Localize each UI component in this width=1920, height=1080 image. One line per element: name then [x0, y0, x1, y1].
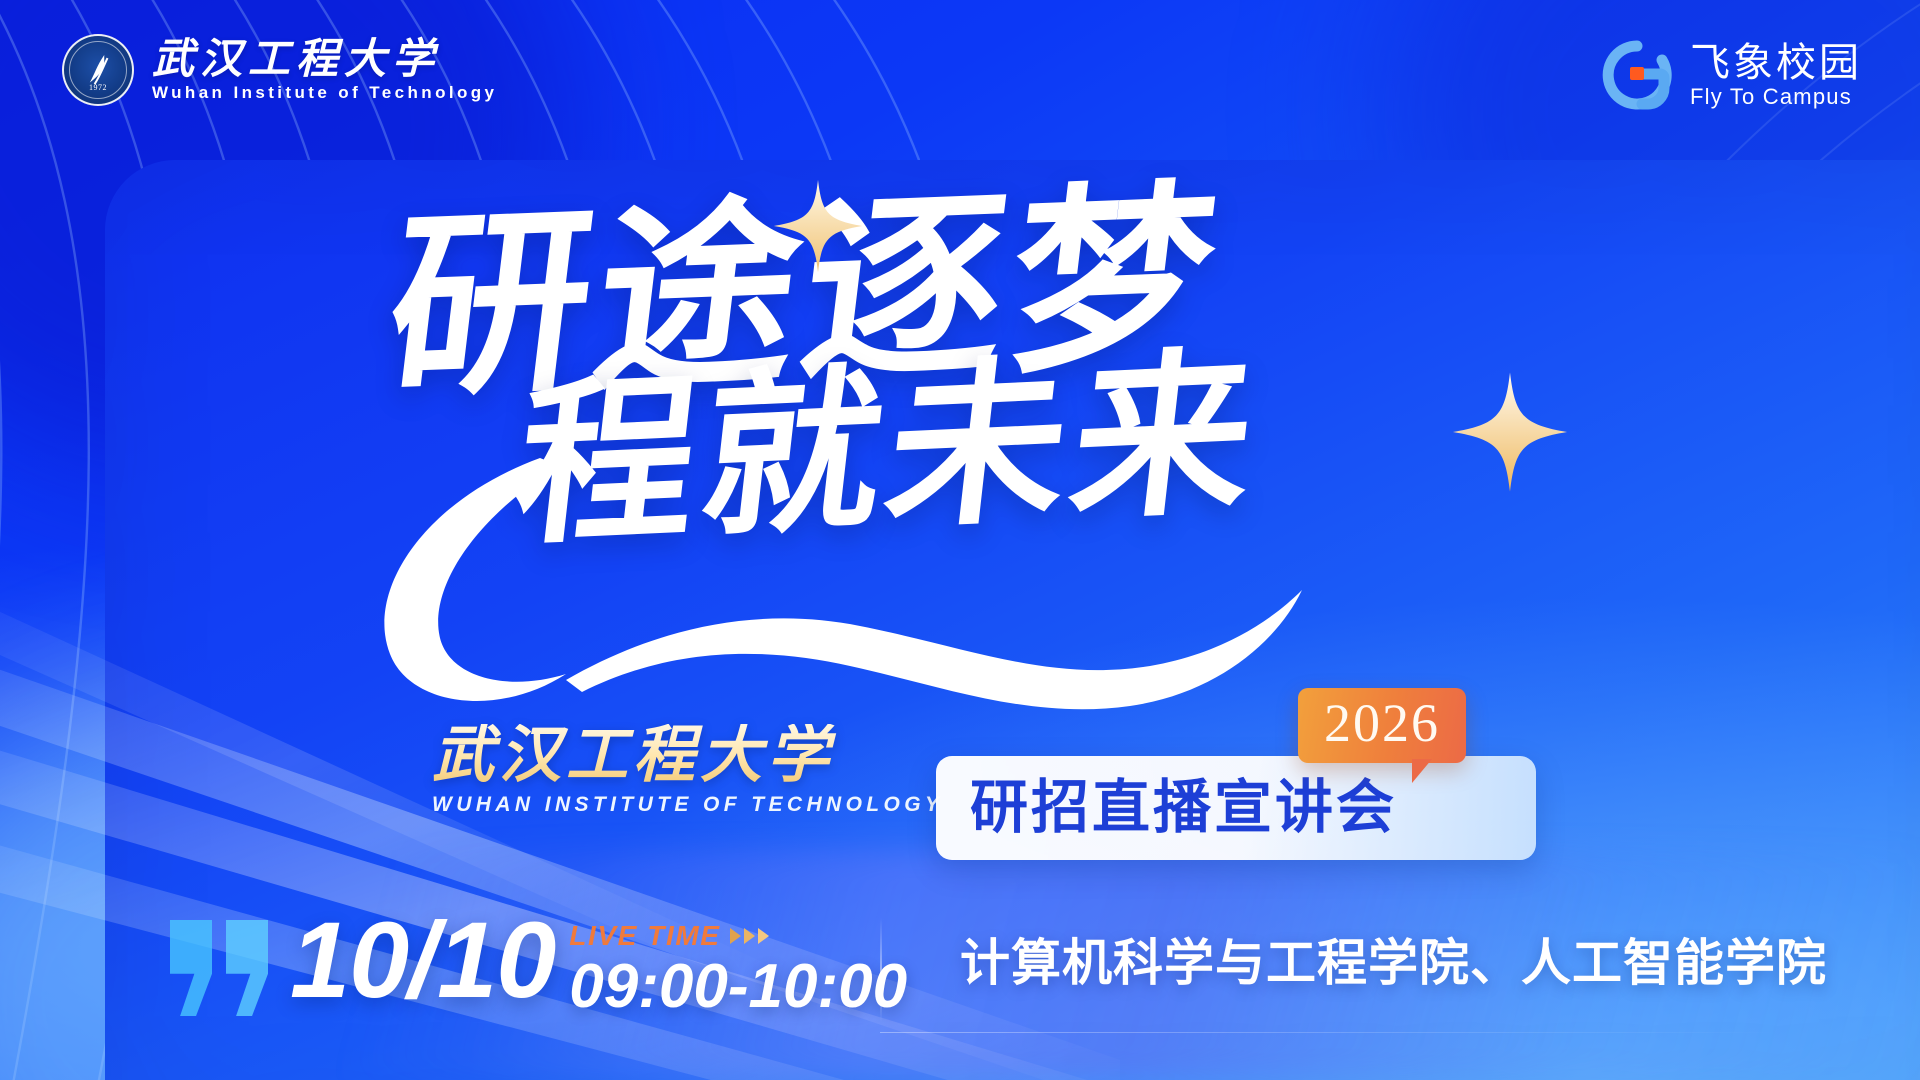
subtitle-university: 武汉工程大学 WUHAN INSTITUTE OF TECHNOLOGY — [432, 724, 943, 817]
subtitle-university-en: WUHAN INSTITUTE OF TECHNOLOGY — [432, 793, 943, 817]
bottom-info-bar: 10/10 LIVE TIME 09:00-10:00 计算机科学与工程学院、人… — [0, 900, 1920, 1080]
live-time-row: LIVE TIME — [569, 922, 907, 950]
promo-banner: 1972 武汉工程大学 Wuhan Institute of Technolog… — [0, 0, 1920, 1080]
university-seal-icon: 1972 — [62, 34, 134, 106]
platform-brand: 飞象校园 Fly To Campus — [1600, 38, 1862, 112]
schedule-block: 10/10 LIVE TIME 09:00-10:00 — [290, 906, 907, 1019]
university-name-en: Wuhan Institute of Technology — [152, 84, 497, 103]
event-date: 10/10 — [290, 906, 555, 1014]
university-brand: 1972 武汉工程大学 Wuhan Institute of Technolog… — [62, 34, 497, 106]
department-name: 计算机科学与工程学院、人工智能学院 — [960, 936, 1827, 991]
platform-name-cn: 飞象校园 — [1690, 43, 1862, 83]
seal-year: 1972 — [64, 83, 132, 92]
platform-name-en: Fly To Campus — [1690, 86, 1862, 108]
event-title: 研招直播宣讲会 — [970, 779, 1397, 837]
horizontal-rule — [880, 1032, 1780, 1033]
event-title-card: 研招直播宣讲会 — [936, 756, 1536, 860]
university-name-cn: 武汉工程大学 — [152, 38, 497, 82]
event-time-range: 09:00-10:00 — [569, 954, 907, 1019]
fly-to-campus-logo-icon — [1600, 38, 1674, 112]
live-time-label: LIVE TIME — [569, 922, 720, 950]
subtitle-row: 武汉工程大学 WUHAN INSTITUTE OF TECHNOLOGY 研招直… — [0, 712, 1920, 872]
vertical-divider — [880, 918, 882, 1022]
year-badge: 2026 — [1298, 688, 1466, 763]
triple-arrow-icon — [730, 928, 769, 944]
subtitle-university-cn: 武汉工程大学 — [432, 724, 943, 789]
quote-mark-icon — [170, 920, 268, 1016]
